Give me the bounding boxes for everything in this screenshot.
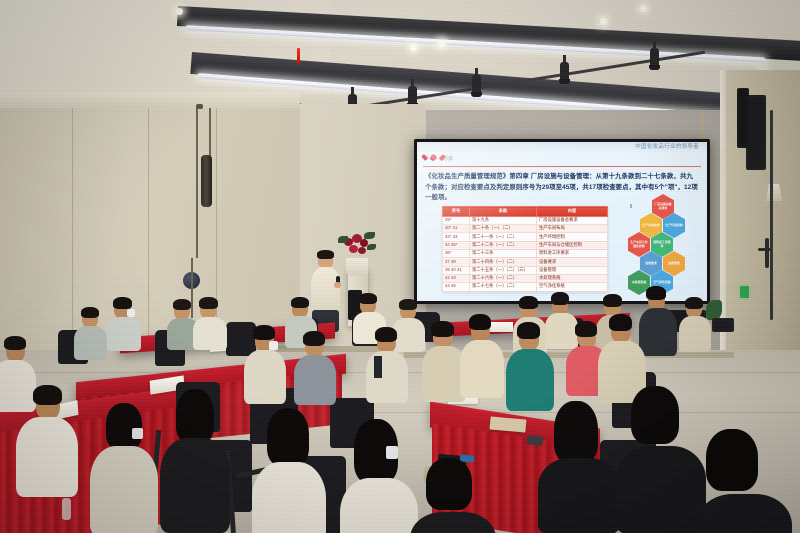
hair bbox=[176, 389, 214, 443]
hair bbox=[399, 299, 417, 310]
hair bbox=[519, 296, 538, 309]
table-row: 42 43第二十六条（一）（二）水处理系统 bbox=[443, 274, 608, 282]
leaf bbox=[364, 232, 375, 239]
face-mask bbox=[269, 341, 278, 350]
torso bbox=[545, 313, 578, 349]
door-edge bbox=[770, 110, 773, 320]
hair bbox=[603, 294, 622, 307]
conference-room-photo: 中国化妆品行业的领导者 丹姿 《化妆品生产质量管理规范》第四章 厂房设施与设备管… bbox=[0, 0, 800, 533]
pendant-sconce-icon bbox=[201, 155, 212, 207]
hair bbox=[646, 286, 666, 300]
torso bbox=[16, 417, 78, 497]
torso bbox=[193, 317, 227, 350]
slide-table: 序号 条款 内容 29*第十九条厂房设施设备总要求 30* 31第二十条（一）（… bbox=[442, 206, 608, 292]
av-equipment-box-2 bbox=[712, 318, 734, 332]
ceiling-downlight bbox=[176, 8, 183, 15]
hair bbox=[303, 331, 325, 346]
slide-banner: 中国化妆品行业的领导者 bbox=[417, 142, 707, 153]
flower-vase bbox=[346, 258, 368, 276]
torso bbox=[460, 340, 504, 398]
table-row: 36*第二十三条原料进工序要求 bbox=[443, 250, 608, 258]
slide-banner-text: 中国化妆品行业的领导者 bbox=[635, 142, 699, 150]
ceiling-downlight bbox=[410, 44, 417, 51]
hex-cell: 设备管理 bbox=[663, 251, 685, 276]
hair bbox=[631, 386, 679, 444]
ceiling-downlight bbox=[640, 5, 647, 12]
hair bbox=[33, 385, 62, 405]
torso bbox=[252, 462, 326, 533]
water-bottle bbox=[62, 498, 71, 520]
table-header-cell: 序号 bbox=[443, 207, 470, 217]
table-header-cell: 条款 bbox=[470, 207, 537, 217]
torso bbox=[294, 355, 336, 405]
hair bbox=[426, 458, 472, 510]
leaf bbox=[367, 244, 376, 250]
table-row: 30* 31第二十条（一）（二）生产车间布局 bbox=[443, 225, 608, 233]
exit-sign-icon bbox=[740, 286, 749, 298]
double-heart-logo-icon-2 bbox=[434, 155, 441, 162]
hair bbox=[173, 299, 191, 310]
slide-logo: 丹姿 bbox=[425, 155, 453, 162]
hair bbox=[291, 297, 309, 308]
torso bbox=[74, 326, 107, 360]
torso bbox=[90, 446, 158, 533]
torso bbox=[506, 349, 554, 411]
hair bbox=[469, 314, 491, 330]
spotlight bbox=[650, 48, 659, 68]
torso bbox=[160, 438, 230, 533]
table-header-row: 序号 条款 内容 bbox=[443, 207, 608, 217]
chair bbox=[226, 322, 256, 356]
hair bbox=[575, 321, 597, 337]
torso bbox=[340, 478, 418, 533]
table-row: 32* 33第二十一条（一）（二）生产环境控制 bbox=[443, 233, 608, 241]
spotlight bbox=[408, 86, 417, 106]
slide-hex-diagram: 厂房设施设备总要求 生产车间布局 生产环境控制 生产车间与仓储区控制 原料进工序… bbox=[617, 194, 703, 294]
torso bbox=[244, 350, 286, 404]
torso bbox=[538, 458, 620, 533]
leaf bbox=[338, 236, 348, 243]
flower bbox=[358, 247, 366, 254]
hair bbox=[359, 293, 377, 304]
presenter-body bbox=[311, 267, 340, 313]
wall-speaker-side bbox=[737, 88, 749, 148]
torso bbox=[696, 494, 792, 533]
face-mask bbox=[127, 309, 135, 317]
torso bbox=[616, 446, 706, 533]
sconce-rod bbox=[196, 108, 198, 258]
hair bbox=[554, 401, 598, 463]
spotlight bbox=[560, 62, 569, 82]
torso bbox=[639, 308, 677, 356]
ceiling-downlight bbox=[600, 18, 607, 25]
spotlight bbox=[472, 75, 481, 95]
hair bbox=[375, 327, 397, 342]
hair bbox=[685, 297, 703, 309]
potted-plant bbox=[706, 300, 722, 320]
table-row: 44 45第二十七条（一）（二）空气净化系统 bbox=[443, 283, 608, 291]
table-row: 39 40 41第二十五条（一）（二）（三）设备管理 bbox=[443, 266, 608, 274]
torso bbox=[0, 360, 36, 412]
hex-cell: 生产车间与仓储区控制 bbox=[628, 232, 650, 257]
table-row: 34 35*第二十二条（一）（二）生产车间与仓储区控制 bbox=[443, 241, 608, 249]
hair bbox=[4, 336, 26, 350]
ceiling-downlight bbox=[438, 40, 445, 47]
hair bbox=[106, 403, 142, 449]
door-handle[interactable] bbox=[765, 238, 769, 268]
torso bbox=[107, 317, 141, 351]
lanyard bbox=[374, 356, 382, 378]
slide-rule bbox=[423, 166, 701, 167]
hair bbox=[267, 408, 309, 466]
face-mask bbox=[132, 428, 143, 439]
face-mask bbox=[386, 446, 398, 459]
torso bbox=[366, 351, 408, 403]
sconce-rod bbox=[191, 258, 193, 318]
presenter-hair bbox=[317, 250, 334, 259]
torso bbox=[679, 316, 711, 352]
wall-speaker bbox=[746, 95, 766, 170]
hair bbox=[81, 307, 99, 318]
hex-pointer-dot bbox=[630, 204, 632, 208]
hair bbox=[706, 429, 758, 491]
hair bbox=[609, 314, 632, 331]
hair bbox=[517, 322, 540, 339]
hair bbox=[431, 321, 454, 337]
hair bbox=[113, 297, 132, 309]
red-laser-marker bbox=[297, 48, 300, 64]
hair bbox=[199, 297, 218, 309]
hair bbox=[253, 325, 275, 340]
left-wall-top-trim bbox=[0, 92, 300, 108]
presenter-hand bbox=[334, 282, 341, 288]
flower bbox=[349, 245, 358, 253]
table-row: 29*第十九条厂房设施设备总要求 bbox=[443, 216, 608, 224]
table-header-cell: 内容 bbox=[537, 207, 608, 217]
projection-screen[interactable]: 中国化妆品行业的领导者 丹姿 《化妆品生产质量管理规范》第四章 厂房设施与设备管… bbox=[417, 142, 707, 301]
table-row: 37 38第二十四条（一）（二）设备要求 bbox=[443, 258, 608, 266]
phone-object bbox=[527, 435, 544, 446]
hair bbox=[551, 292, 569, 305]
